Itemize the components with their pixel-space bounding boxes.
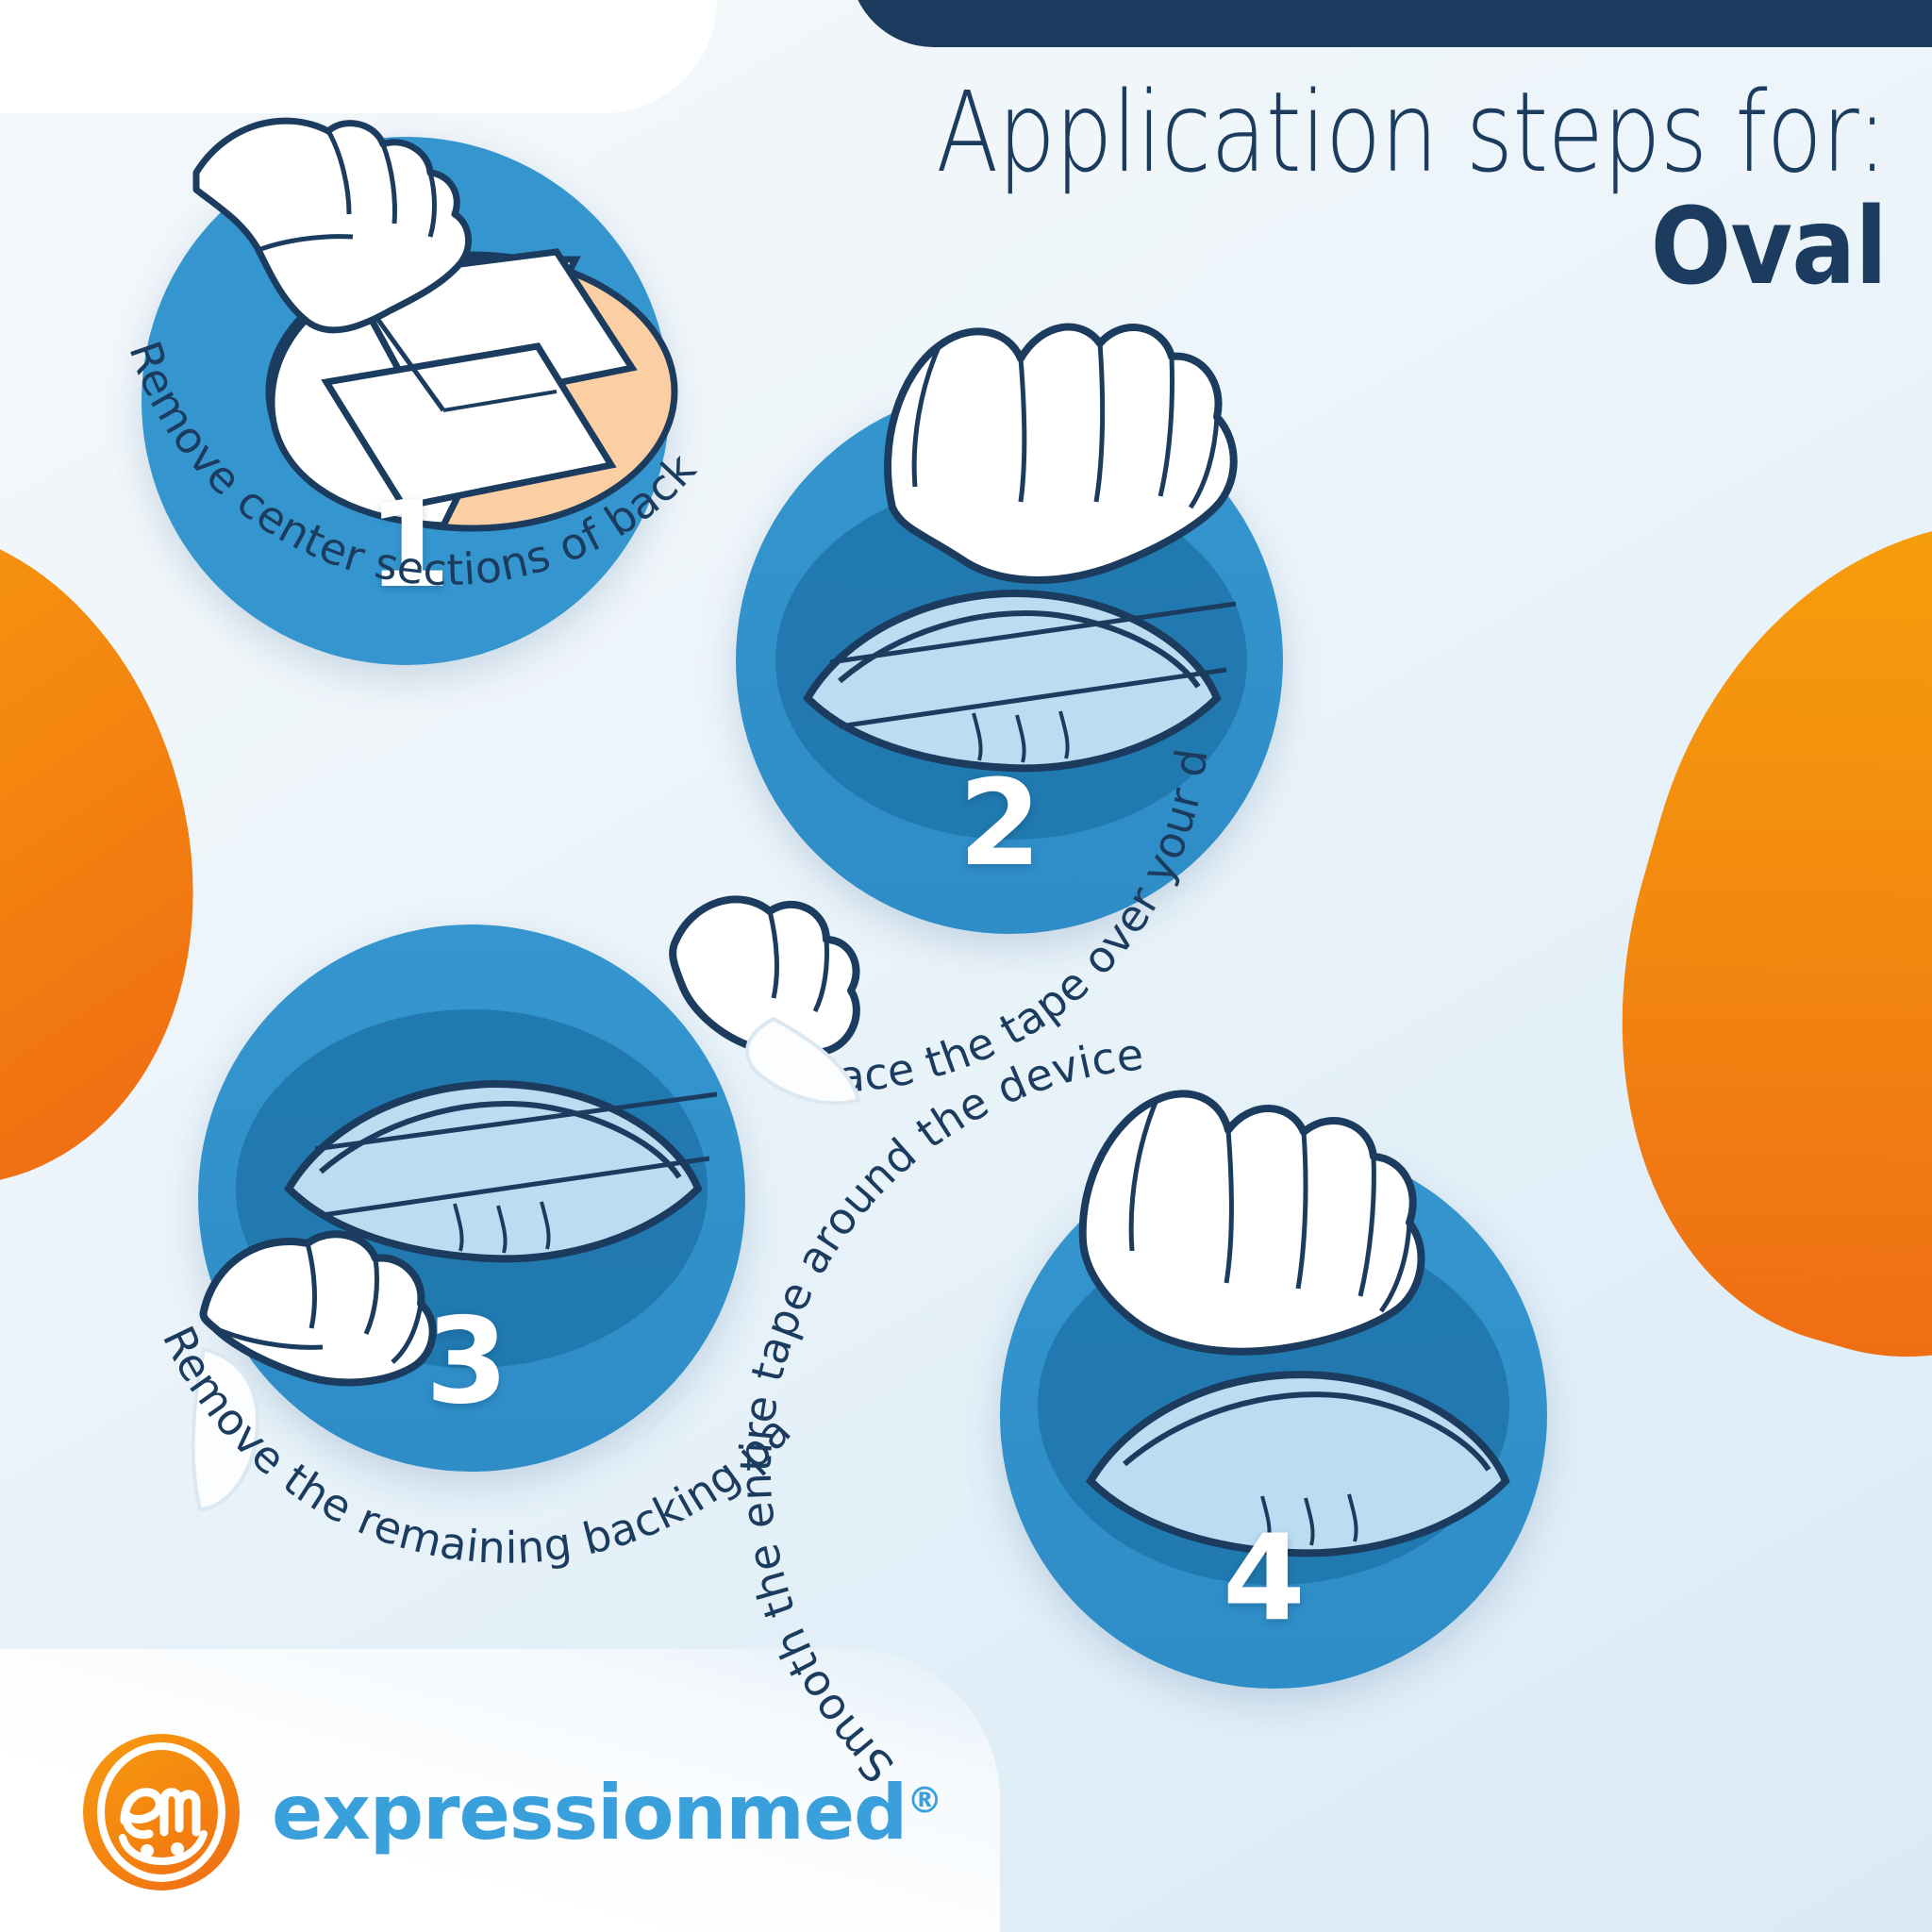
brand-wordmark: expressionmed®: [272, 1769, 941, 1857]
step-3-illustration: [113, 783, 868, 1575]
step-2-number: 2: [943, 764, 1057, 883]
step-1-number: 1: [368, 486, 443, 605]
brand-wordmark-text: expressionmed: [272, 1769, 907, 1857]
em-smiley-logo-icon: [83, 1734, 240, 1890]
navy-header-shape: [849, 0, 1932, 47]
brand-logo[interactable]: expressionmed®: [83, 1734, 941, 1890]
step-4: 4 Smooth the entire tape around the devi…: [981, 1028, 1755, 1858]
step-4-number: 4: [1207, 1519, 1321, 1638]
step-1-illustration: [160, 99, 745, 627]
registered-trademark-symbol: ®: [907, 1779, 941, 1821]
step-3-number: 3: [410, 1302, 524, 1421]
title-line-primary: Application steps for:: [874, 75, 1887, 189]
step-3: 3 Remove the remaining backing paper Rem…: [170, 887, 943, 1717]
infographic-poster: Application steps for: Oval 1: [0, 0, 1932, 1932]
step-1: 1 Remove center sections of backing pape…: [132, 80, 811, 835]
